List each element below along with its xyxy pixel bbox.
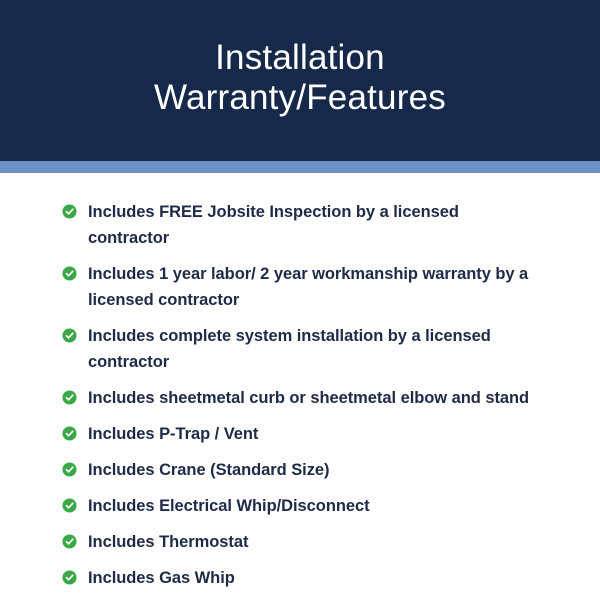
list-item: Includes Gas Whip <box>0 565 600 591</box>
list-item: Includes Crane (Standard Size) <box>0 457 600 483</box>
list-item: Includes Electrical Whip/Disconnect <box>0 493 600 519</box>
list-item-label: Includes Crane (Standard Size) <box>88 457 329 483</box>
list-item: Includes Thermostat <box>0 529 600 555</box>
list-item-label: Includes complete system installation by… <box>88 323 532 375</box>
list-item: Includes FREE Jobsite Inspection by a li… <box>0 199 600 251</box>
check-circle-icon <box>62 462 77 477</box>
card-header: Installation Warranty/Features <box>0 0 600 161</box>
list-item-label: Includes sheetmetal curb or sheetmetal e… <box>88 385 529 411</box>
check-circle-icon <box>62 570 77 585</box>
check-circle-icon <box>62 390 77 405</box>
check-circle-icon <box>62 204 77 219</box>
check-circle-icon <box>62 498 77 513</box>
list-item: Includes 1 year labor/ 2 year workmanshi… <box>0 261 600 313</box>
list-item-label: Includes 1 year labor/ 2 year workmanshi… <box>88 261 532 313</box>
feature-card: Installation Warranty/Features Includes … <box>0 0 600 600</box>
list-item-label: Includes Gas Whip <box>88 565 235 591</box>
check-circle-icon <box>62 266 77 281</box>
list-item: Includes P-Trap / Vent <box>0 421 600 447</box>
check-circle-icon <box>62 426 77 441</box>
list-item: Includes complete system installation by… <box>0 323 600 375</box>
list-item: Includes sheetmetal curb or sheetmetal e… <box>0 385 600 411</box>
feature-list: Includes FREE Jobsite Inspection by a li… <box>0 173 600 591</box>
check-circle-icon <box>62 328 77 343</box>
list-item-label: Includes P-Trap / Vent <box>88 421 258 447</box>
list-item-label: Includes Electrical Whip/Disconnect <box>88 493 370 519</box>
accent-divider-bar <box>0 161 600 173</box>
page-title: Installation Warranty/Features <box>134 38 466 123</box>
check-circle-icon <box>62 534 77 549</box>
list-item-label: Includes FREE Jobsite Inspection by a li… <box>88 199 532 251</box>
list-item-label: Includes Thermostat <box>88 529 248 555</box>
